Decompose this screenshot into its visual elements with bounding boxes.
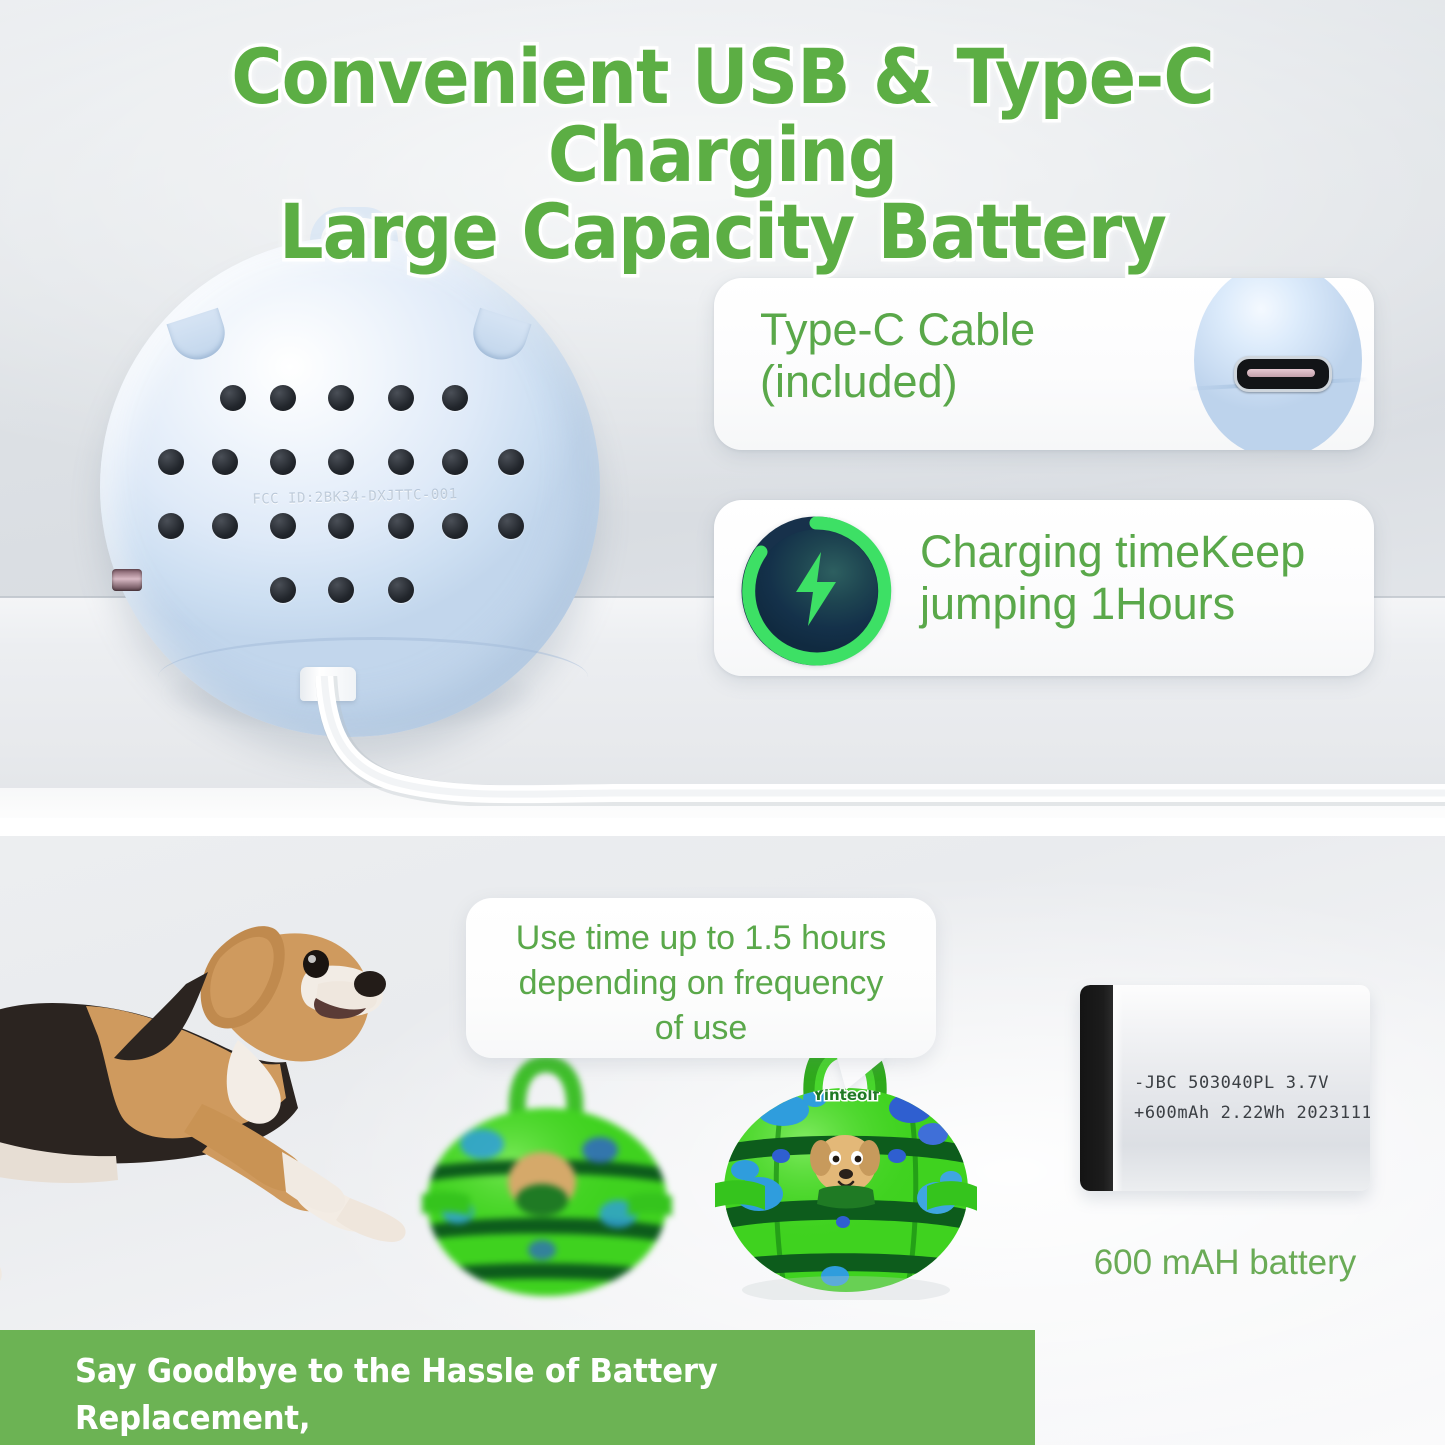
battery-label-line1: -JBC 503040PL 3.7V xyxy=(1134,1073,1329,1093)
ball-vent-hole xyxy=(388,449,414,475)
callout-use-time: Use time up to 1.5 hours depending on fr… xyxy=(466,898,936,1058)
lightning-bolt-glyph xyxy=(788,550,844,628)
ball-vent-hole xyxy=(388,513,414,539)
ball-vent-hole xyxy=(328,577,354,603)
scene-table-front xyxy=(0,788,1445,820)
ball-seam-line xyxy=(158,637,588,750)
fcc-id-label: FCC ID:2BK34-DXJTTC-001 xyxy=(230,486,480,509)
ball-vent-hole xyxy=(212,513,238,539)
type-c-port-pin xyxy=(1247,369,1315,377)
banner-text: Say Goodbye to the Hassle of Battery Rep… xyxy=(75,1348,940,1445)
battery-caption: 600 mAH battery xyxy=(1040,1243,1410,1283)
callout-charging-line1: Charging timeKeep xyxy=(920,526,1350,578)
callout-charging-line2: jumping 1Hours xyxy=(920,578,1350,630)
banner-line1: Say Goodbye to the Hassle of Battery Rep… xyxy=(75,1348,940,1442)
ball-vent-hole xyxy=(442,449,468,475)
ball-vent-hole xyxy=(498,513,524,539)
battery-black-edge xyxy=(1080,985,1113,1191)
ball-vent-hole xyxy=(158,513,184,539)
battery-label-line2: +600mAh 2.22Wh 20231113 xyxy=(1134,1103,1370,1123)
callout-type-c-line1: Type-C Cable xyxy=(760,304,1190,356)
ball-vent-hole xyxy=(328,385,354,411)
usb-type-c-port-icon xyxy=(1234,356,1332,392)
type-c-port-inset xyxy=(1188,278,1368,450)
ball-vent-hole xyxy=(270,577,296,603)
product-ball-device: FCC ID:2BK34-DXJTTC-001 xyxy=(78,215,618,755)
callout-use-time-line3: of use xyxy=(488,1006,914,1051)
callout-use-time-tail xyxy=(836,1054,890,1090)
battery-body: -JBC 503040PL 3.7V +600mAh 2.22Wh 202311… xyxy=(1080,985,1370,1191)
battery-edge-highlight xyxy=(1113,985,1123,1191)
callout-type-c-line2: (included) xyxy=(760,356,1190,408)
ball-vent-hole xyxy=(220,385,246,411)
callout-use-time-text: Use time up to 1.5 hours depending on fr… xyxy=(488,916,914,1051)
panel-divider xyxy=(0,818,1445,836)
ball-vent-hole xyxy=(498,449,524,475)
cable-connector-head xyxy=(300,667,356,701)
callout-type-c-cable: Type-C Cable (included) xyxy=(714,278,1374,450)
callout-charging-time: Charging timeKeep jumping 1Hours xyxy=(714,500,1374,676)
ball-vent-hole xyxy=(388,577,414,603)
product-infographic: FCC ID:2BK34-DXJTTC-001 Type-C Cable (in… xyxy=(0,0,1445,1445)
top-scene-panel: FCC ID:2BK34-DXJTTC-001 Type-C Cable (in… xyxy=(0,0,1445,820)
lithium-battery-image: -JBC 503040PL 3.7V +600mAh 2.22Wh 202311… xyxy=(1080,985,1370,1191)
charging-bolt-icon xyxy=(736,518,896,660)
callout-charging-text: Charging timeKeep jumping 1Hours xyxy=(920,526,1350,630)
toy-ball-left xyxy=(422,1050,672,1300)
ball-vent-hole xyxy=(270,449,296,475)
ball-vent-hole xyxy=(328,449,354,475)
ball-vent-right xyxy=(467,308,532,367)
bottom-green-banner: Say Goodbye to the Hassle of Battery Rep… xyxy=(0,1330,1035,1445)
ball-vent-hole xyxy=(158,449,184,475)
beagle-dog-photo xyxy=(0,858,456,1328)
ball-body: FCC ID:2BK34-DXJTTC-001 xyxy=(100,237,600,737)
ball-side-port xyxy=(112,569,142,591)
ball-vent-hole xyxy=(328,513,354,539)
ball-vent-hole xyxy=(388,385,414,411)
callout-type-c-text: Type-C Cable (included) xyxy=(760,304,1190,408)
ball-vent-hole xyxy=(442,513,468,539)
ball-vent-hole xyxy=(270,513,296,539)
ball-vent-hole xyxy=(270,385,296,411)
callout-use-time-line1: Use time up to 1.5 hours xyxy=(488,916,914,961)
callout-use-time-line2: depending on frequency xyxy=(488,961,914,1006)
ball-vent-hole xyxy=(212,449,238,475)
ball-vent-left xyxy=(167,308,232,367)
ball-vent-hole xyxy=(442,385,468,411)
